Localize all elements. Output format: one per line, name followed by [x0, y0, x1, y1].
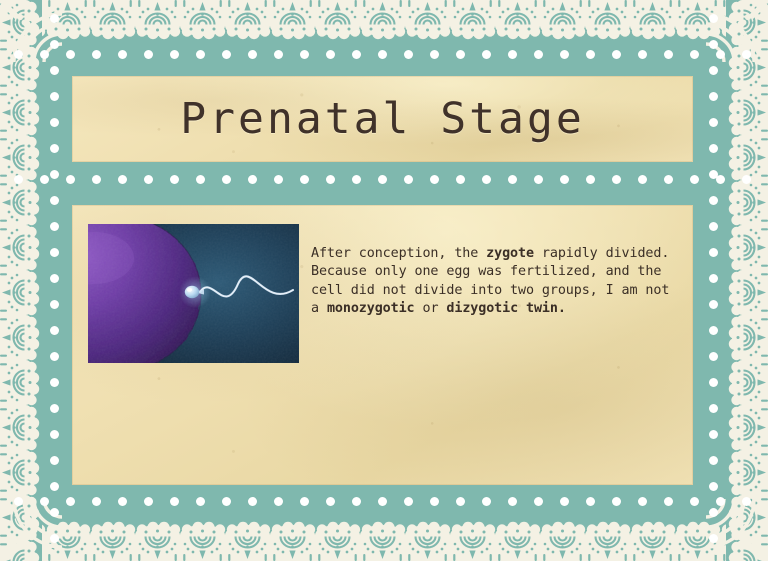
- border-dot: [196, 50, 205, 59]
- border-dot: [92, 50, 101, 59]
- border-dot: [482, 497, 491, 506]
- border-dot: [709, 534, 718, 543]
- border-dot: [326, 50, 335, 59]
- border-dot: [534, 497, 543, 506]
- border-dot: [709, 326, 718, 335]
- border-dot: [118, 50, 127, 59]
- border-dot: [534, 175, 543, 184]
- border-dot: [170, 497, 179, 506]
- body-text-run: or: [415, 301, 447, 316]
- border-dot: [248, 175, 257, 184]
- border-dot: [709, 170, 718, 179]
- border-dot: [40, 50, 49, 59]
- border-dot: [50, 40, 59, 49]
- dot-row-lower: [0, 497, 768, 507]
- border-dot: [196, 497, 205, 506]
- body-paragraph: After conception, the zygote rapidly div…: [311, 245, 683, 319]
- slide: Prenatal Stage: [0, 0, 768, 561]
- border-dot: [709, 300, 718, 309]
- border-dot: [638, 50, 647, 59]
- border-dot: [50, 118, 59, 127]
- border-dot: [118, 175, 127, 184]
- border-dot: [404, 50, 413, 59]
- border-dot: [222, 175, 231, 184]
- border-dot: [742, 50, 751, 59]
- dot-column-right: [709, 0, 719, 561]
- border-dot: [352, 50, 361, 59]
- border-dot: [430, 497, 439, 506]
- border-dot: [638, 175, 647, 184]
- border-dot: [709, 92, 718, 101]
- lace-border-right: [726, 0, 768, 561]
- border-dot: [709, 456, 718, 465]
- border-dot: [709, 222, 718, 231]
- border-dot: [50, 534, 59, 543]
- border-dot: [664, 50, 673, 59]
- border-dot: [66, 50, 75, 59]
- content-panel: After conception, the zygote rapidly div…: [72, 205, 693, 485]
- border-dot: [482, 175, 491, 184]
- border-dot: [664, 497, 673, 506]
- dot-column-left: [50, 0, 60, 561]
- border-dot: [638, 497, 647, 506]
- border-dot: [716, 50, 725, 59]
- border-dot: [326, 175, 335, 184]
- border-dot: [508, 50, 517, 59]
- border-dot: [50, 170, 59, 179]
- border-dot: [50, 66, 59, 75]
- border-dot: [709, 40, 718, 49]
- border-dot: [508, 175, 517, 184]
- lace-border-left: [0, 0, 42, 561]
- border-dot: [50, 456, 59, 465]
- border-dot: [40, 175, 49, 184]
- border-dot: [560, 50, 569, 59]
- border-dot: [709, 274, 718, 283]
- border-dot: [404, 497, 413, 506]
- border-dot: [50, 196, 59, 205]
- border-dot: [709, 248, 718, 257]
- border-dot: [612, 497, 621, 506]
- border-dot: [14, 497, 23, 506]
- body-term-emphasis: monozygotic: [327, 301, 415, 316]
- border-dot: [378, 497, 387, 506]
- border-dot: [66, 175, 75, 184]
- dot-row-middle: [0, 175, 768, 185]
- border-dot: [709, 66, 718, 75]
- border-dot: [709, 430, 718, 439]
- border-dot: [612, 50, 621, 59]
- corner-ornament-top-left: [0, 0, 62, 62]
- border-dot: [248, 497, 257, 506]
- dot-row-top: [0, 50, 768, 60]
- border-dot: [742, 175, 751, 184]
- border-dot: [144, 175, 153, 184]
- border-dot: [709, 352, 718, 361]
- border-dot: [248, 50, 257, 59]
- border-dot: [66, 497, 75, 506]
- border-dot: [50, 14, 59, 23]
- corner-ornament-bottom-right: [706, 499, 768, 561]
- border-dot: [222, 497, 231, 506]
- border-dot: [586, 175, 595, 184]
- border-dot: [664, 175, 673, 184]
- border-dot: [300, 50, 309, 59]
- border-dot: [50, 482, 59, 491]
- border-dot: [40, 497, 49, 506]
- border-dot: [352, 497, 361, 506]
- border-dot: [456, 50, 465, 59]
- border-dot: [50, 326, 59, 335]
- border-dot: [404, 175, 413, 184]
- body-text-run: After conception, the: [311, 246, 486, 261]
- border-dot: [690, 175, 699, 184]
- border-dot: [50, 352, 59, 361]
- border-dot: [456, 497, 465, 506]
- border-dot: [709, 118, 718, 127]
- border-dot: [709, 378, 718, 387]
- border-dot: [709, 482, 718, 491]
- border-dot: [144, 50, 153, 59]
- lace-border-bottom: [0, 519, 768, 561]
- border-dot: [274, 50, 283, 59]
- border-dot: [50, 222, 59, 231]
- border-dot: [742, 497, 751, 506]
- border-dot: [50, 430, 59, 439]
- border-dot: [430, 175, 439, 184]
- border-dot: [456, 175, 465, 184]
- border-dot: [274, 175, 283, 184]
- border-dot: [690, 497, 699, 506]
- border-dot: [612, 175, 621, 184]
- border-dot: [378, 50, 387, 59]
- border-dot: [300, 175, 309, 184]
- border-dot: [709, 196, 718, 205]
- border-dot: [170, 50, 179, 59]
- border-dot: [378, 175, 387, 184]
- corner-ornament-top-right: [706, 0, 768, 62]
- corner-ornament-bottom-left: [0, 499, 62, 561]
- border-dot: [560, 497, 569, 506]
- border-dot: [144, 497, 153, 506]
- border-dot: [50, 248, 59, 257]
- border-dot: [709, 404, 718, 413]
- border-dot: [196, 175, 205, 184]
- border-dot: [586, 497, 595, 506]
- border-dot: [14, 50, 23, 59]
- border-dot: [14, 175, 23, 184]
- border-dot: [716, 175, 725, 184]
- border-dot: [170, 175, 179, 184]
- border-dot: [482, 50, 491, 59]
- border-dot: [274, 497, 283, 506]
- body-term-emphasis: dizygotic twin.: [446, 301, 565, 316]
- border-dot: [118, 497, 127, 506]
- border-dot: [92, 175, 101, 184]
- border-dot: [50, 404, 59, 413]
- border-dot: [716, 497, 725, 506]
- border-dot: [709, 508, 718, 517]
- border-dot: [50, 378, 59, 387]
- border-dot: [690, 50, 699, 59]
- border-dot: [50, 508, 59, 517]
- body-term-emphasis: zygote: [486, 246, 534, 261]
- lace-border-top: [0, 0, 768, 42]
- border-dot: [92, 497, 101, 506]
- border-dot: [50, 92, 59, 101]
- border-dot: [709, 144, 718, 153]
- border-dot: [508, 497, 517, 506]
- border-dot: [50, 274, 59, 283]
- border-dot: [534, 50, 543, 59]
- page-title: Prenatal Stage: [180, 94, 584, 144]
- border-dot: [50, 300, 59, 309]
- border-dot: [560, 175, 569, 184]
- border-dot: [352, 175, 361, 184]
- fertilization-photo: [88, 224, 299, 363]
- border-dot: [709, 14, 718, 23]
- border-dot: [300, 497, 309, 506]
- border-dot: [222, 50, 231, 59]
- border-dot: [430, 50, 439, 59]
- border-dot: [50, 144, 59, 153]
- border-dot: [586, 50, 595, 59]
- title-panel: Prenatal Stage: [72, 76, 693, 162]
- border-dot: [326, 497, 335, 506]
